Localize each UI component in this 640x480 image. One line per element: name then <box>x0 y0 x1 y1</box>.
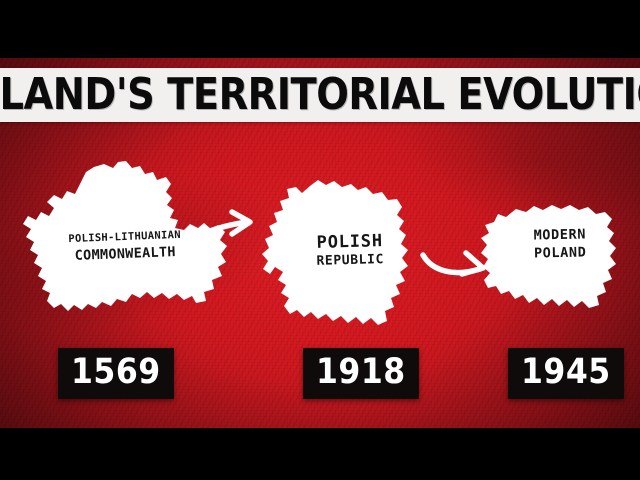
map-label-republic-line1: POLISH <box>295 232 405 254</box>
letterbox-bar-bottom <box>0 428 640 480</box>
letterbox-bar-top <box>0 0 640 58</box>
year-chip-1569: 1569 <box>58 348 174 399</box>
map-label-republic: POLISH REPUBLIC <box>295 232 406 270</box>
map-label-republic-line2: REPUBLIC <box>295 253 405 270</box>
year-chip-1918: 1918 <box>303 348 419 399</box>
title-banner: POLAND'S TERRITORIAL EVOLUTION <box>0 68 640 122</box>
year-chip-1945: 1945 <box>508 348 624 399</box>
map-label-modern-line2: POLAND <box>510 245 610 262</box>
map-label-modern-line1: MODERN <box>510 227 610 244</box>
video-frame: POLAND'S TERRITORIAL EVOLUTION POLISH-LI… <box>0 0 640 480</box>
page-title: POLAND'S TERRITORIAL EVOLUTION <box>0 73 640 117</box>
arrow-republic-to-modern <box>420 243 498 287</box>
map-label-modern: MODERN POLAND <box>510 227 611 262</box>
